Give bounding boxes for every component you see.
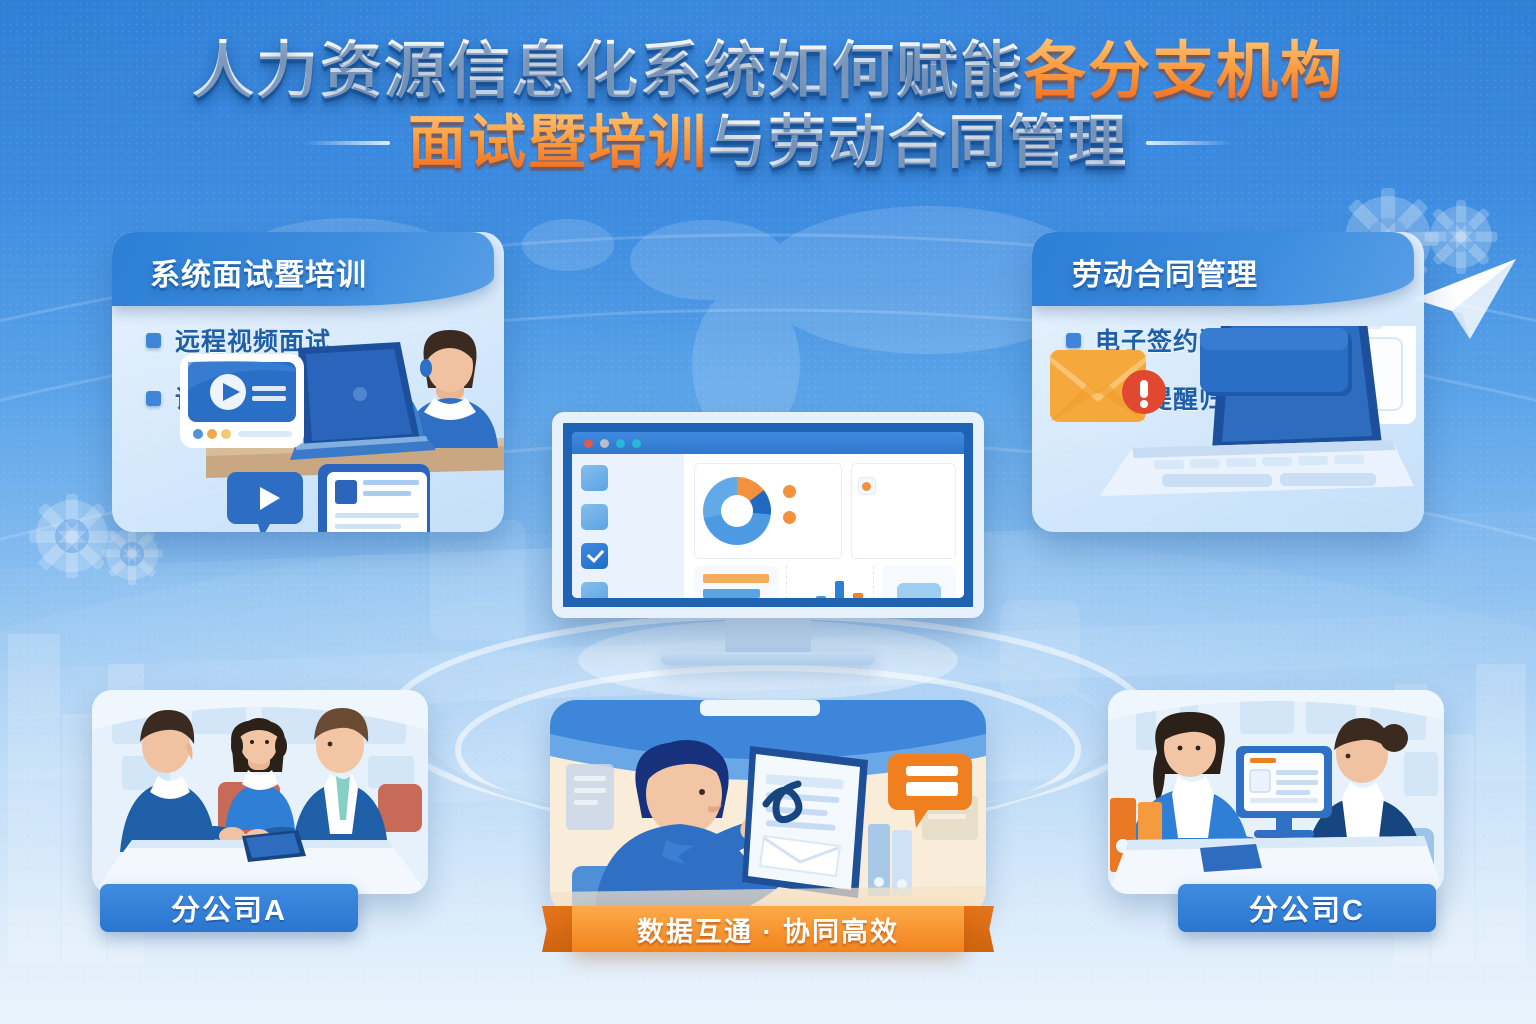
- infographic-poster: 人力资源信息化系统如何赋能各分支机构 面试暨培训与劳动合同管理 系统面试暨培训: [0, 0, 1536, 1024]
- item-text-lines: [616, 582, 675, 585]
- title-rule-right: [1146, 141, 1232, 145]
- gear-icon: [36, 500, 108, 572]
- chat-bubble-icon: [227, 472, 303, 532]
- training-illustration: [178, 320, 504, 532]
- window-titlebar: [572, 432, 964, 454]
- legend-dot-icon: [783, 511, 796, 524]
- branch-label-a: 分公司A: [100, 884, 358, 932]
- contract-illustration: [1036, 326, 1422, 532]
- legend-dot-icon: [783, 485, 796, 498]
- legend-entry: [783, 485, 833, 498]
- video-player-icon: [180, 354, 304, 448]
- city-skyline: [1476, 664, 1526, 964]
- card-interview-training[interactable]: 系统面试暨培训 远程视频面试 课程考核评价: [112, 232, 504, 532]
- city-skyline: [8, 634, 60, 964]
- gear-icon: [106, 528, 158, 580]
- card-labor-contract[interactable]: 劳动合同管理 电子签约流程 到期提醒归档: [1032, 232, 1424, 532]
- title-line2-orange: 面试暨培训: [408, 110, 708, 175]
- office-desk-scene: [1108, 690, 1444, 894]
- dashboard-sidebar: [572, 454, 684, 598]
- poster-title: 人力资源信息化系统如何赋能各分支机构 面试暨培训与劳动合同管理: [0, 40, 1536, 172]
- manage-button: [1200, 328, 1352, 396]
- list-item[interactable]: [581, 504, 675, 530]
- dashboard-window: [572, 432, 964, 598]
- title-line1-white: 人力资源信息化系统如何赋能: [192, 37, 1024, 106]
- checkbox-icon[interactable]: [581, 465, 608, 491]
- horizontal-bars-panel[interactable]: [694, 566, 778, 598]
- checkbox-checked-icon[interactable]: [581, 543, 608, 569]
- document-card-icon: [318, 464, 430, 532]
- legend-entry: [783, 511, 833, 524]
- donut-chart: [703, 477, 771, 545]
- chart-legend: [783, 485, 833, 537]
- branch-scene-c[interactable]: [1108, 690, 1444, 894]
- text-summary-panel[interactable]: [851, 463, 956, 559]
- envelope-icon: [897, 583, 941, 598]
- window-maximize-dot[interactable]: [616, 439, 625, 448]
- checkbox-icon[interactable]: [581, 504, 608, 530]
- dashboard-body: [572, 454, 964, 598]
- interview-panel-scene: [92, 690, 428, 894]
- ribbon-label: 数据互通 · 协同高效: [572, 906, 964, 952]
- envelope-alert-icon: [1050, 350, 1166, 422]
- checkbox-icon[interactable]: [581, 582, 608, 598]
- window-close-dot[interactable]: [584, 439, 593, 448]
- paper-plane-icon: [1412, 255, 1518, 341]
- bullet-dot-icon: [146, 391, 161, 406]
- list-item[interactable]: [581, 465, 675, 491]
- item-text-lines: [616, 465, 675, 468]
- title-rule-left: [304, 141, 390, 145]
- laptop-icon: [290, 342, 436, 460]
- item-text-lines: [616, 504, 675, 507]
- title-line2-white: 劳动合同管理: [768, 110, 1128, 175]
- dashboard-top-row: [694, 463, 956, 559]
- title-line1-orange: 各分支机构: [1024, 37, 1344, 106]
- monitor-base: [661, 652, 875, 665]
- monitor-stand: [725, 618, 811, 652]
- mail-widget-panel[interactable]: [882, 566, 956, 598]
- gear-icon: [1430, 206, 1492, 268]
- binder-icons: [868, 824, 912, 896]
- tablet-contract: [742, 746, 868, 898]
- contract-signing-scene[interactable]: [550, 700, 986, 916]
- list-item-selected[interactable]: [581, 543, 675, 569]
- monitor-screen: [552, 412, 984, 618]
- title-line2-join: 与: [708, 110, 768, 175]
- central-dashboard-monitor[interactable]: [552, 412, 984, 665]
- card-right-title: 劳动合同管理: [1072, 250, 1258, 294]
- list-item[interactable]: [581, 582, 675, 598]
- dashboard-main: [684, 454, 964, 598]
- window-minimize-dot[interactable]: [600, 439, 609, 448]
- ribbon-tail-right: [960, 906, 994, 952]
- donut-chart-panel[interactable]: [694, 463, 842, 559]
- card-left-title: 系统面试暨培训: [150, 250, 367, 294]
- dashboard-bottom-row: [694, 566, 956, 598]
- ribbon-tail-left: [542, 906, 576, 952]
- branch-scene-a[interactable]: [92, 690, 428, 894]
- signing-illustration: [550, 700, 986, 916]
- window-extra-dot[interactable]: [632, 439, 641, 448]
- branch-label-c: 分公司C: [1178, 884, 1436, 932]
- item-text-lines: [616, 543, 675, 546]
- bar-chart-panel[interactable]: [786, 566, 874, 598]
- status-badge: [858, 477, 876, 495]
- bar: [853, 593, 863, 598]
- bullet-dot-icon: [146, 333, 161, 348]
- bar: [816, 596, 826, 598]
- bar: [835, 581, 845, 598]
